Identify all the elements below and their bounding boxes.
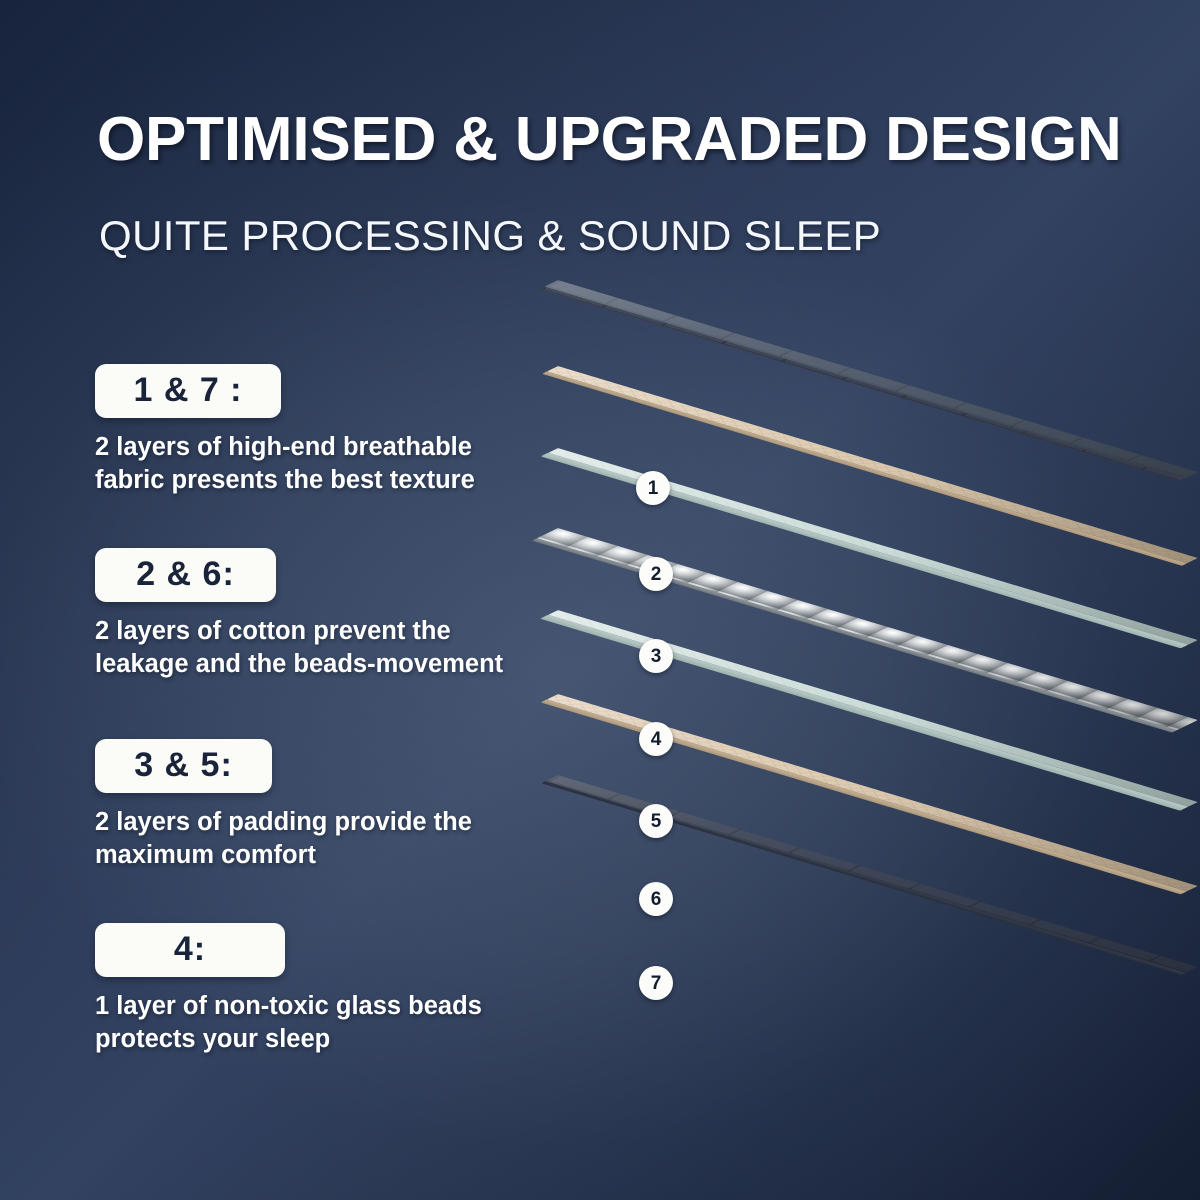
layer-badge-number: 2 bbox=[651, 565, 662, 584]
layer-label-text: 1 & 7 : bbox=[119, 373, 257, 407]
layer-badge-3: 3 bbox=[639, 639, 673, 673]
layer-description: 2 layers of padding provide the maximum … bbox=[95, 806, 525, 871]
layer-badge-number: 4 bbox=[651, 730, 662, 749]
layer-badge-4: 4 bbox=[639, 722, 673, 756]
layer-label-text: 4: bbox=[119, 932, 261, 966]
product-infographic: OPTIMISED & UPGRADED DESIGN QUITE PROCES… bbox=[0, 0, 1200, 1200]
page-title: OPTIMISED & UPGRADED DESIGN bbox=[97, 108, 1117, 171]
layer-badge-number: 7 bbox=[651, 974, 662, 993]
layer-badge-number: 3 bbox=[651, 647, 662, 666]
layer-badge-2: 2 bbox=[639, 557, 673, 591]
layer-badge-number: 5 bbox=[651, 812, 662, 831]
layer-badge-number: 6 bbox=[651, 890, 662, 909]
layer-badge-number: 1 bbox=[648, 479, 659, 498]
layer-label-text: 2 & 6: bbox=[119, 557, 252, 591]
layer-label-pill: 1 & 7 : bbox=[95, 364, 281, 418]
layer-slab-7 bbox=[520, 775, 1200, 1195]
layer-badge-7: 7 bbox=[639, 966, 673, 1000]
layer-badge-6: 6 bbox=[639, 882, 673, 916]
layer-label-pill: 2 & 6: bbox=[95, 548, 276, 602]
info-block-3-5: 3 & 5: 2 layers of padding provide the m… bbox=[95, 739, 525, 871]
layer-description: 1 layer of non-toxic glass beads protect… bbox=[95, 990, 525, 1055]
layer-label-pill: 3 & 5: bbox=[95, 739, 272, 793]
layer-description: 2 layers of high-end breathable fabric p… bbox=[95, 431, 525, 496]
layer-description: 2 layers of cotton prevent the leakage a… bbox=[95, 615, 525, 680]
info-block-2-6: 2 & 6: 2 layers of cotton prevent the le… bbox=[95, 548, 525, 680]
layer-label-pill: 4: bbox=[95, 923, 285, 977]
exploded-layer-diagram bbox=[520, 280, 1200, 1180]
layer-badge-1: 1 bbox=[636, 471, 670, 505]
info-block-4: 4: 1 layer of non-toxic glass beads prot… bbox=[95, 923, 525, 1055]
layer-badge-5: 5 bbox=[639, 804, 673, 838]
page-subtitle: QUITE PROCESSING & SOUND SLEEP bbox=[99, 212, 881, 260]
layer-label-text: 3 & 5: bbox=[119, 748, 248, 782]
info-block-1-7: 1 & 7 : 2 layers of high-end breathable … bbox=[95, 364, 525, 496]
